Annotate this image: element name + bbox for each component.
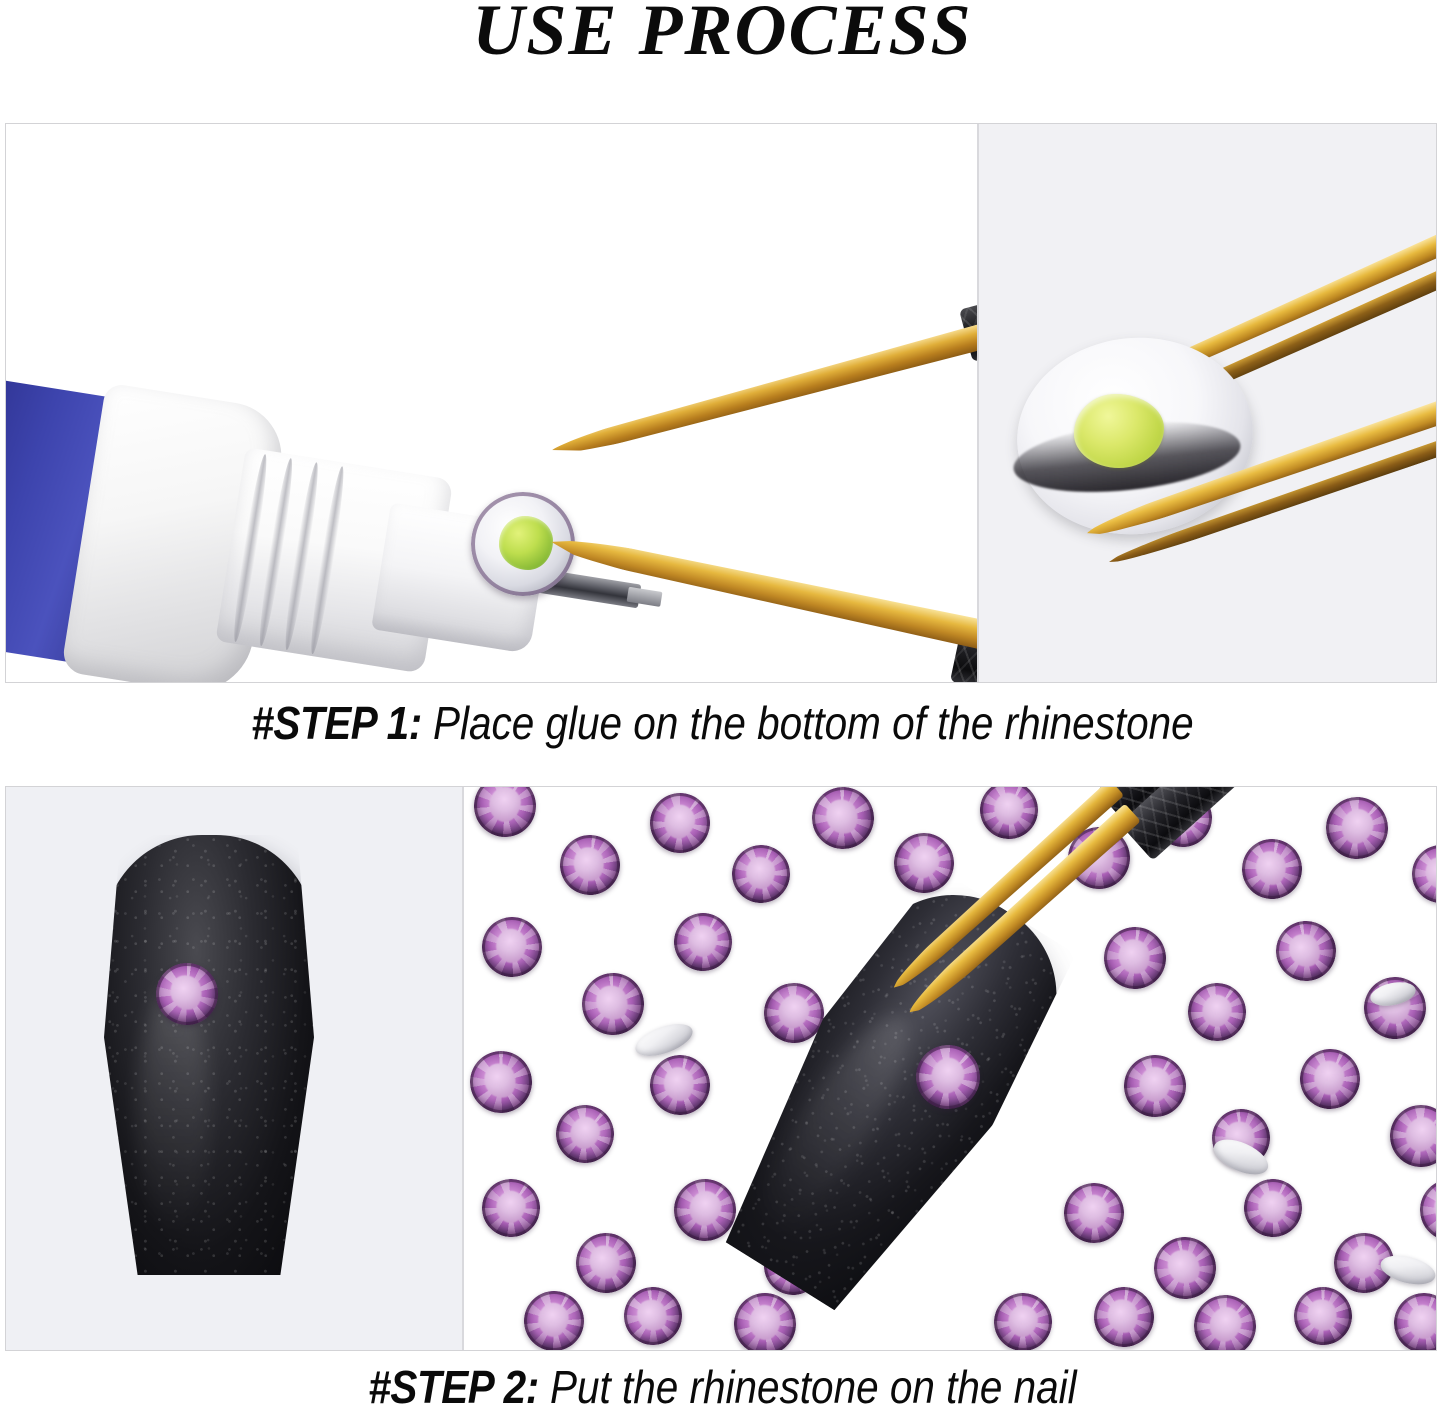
tweezer-tip-upper: [548, 318, 977, 465]
step-1-text: Place glue on the bottom of the rhinesto…: [422, 697, 1194, 749]
rhinestone: [1287, 1280, 1359, 1350]
rhinestone: [547, 1096, 624, 1173]
finished-nail-photo: [6, 787, 462, 1350]
rhinestone-closeup-photo: [979, 124, 1436, 682]
rhinestone: [573, 964, 652, 1043]
rhinestone: [1412, 1171, 1436, 1249]
rhinestone-foil-back: [1378, 1251, 1436, 1290]
rhinestone: [556, 831, 624, 899]
rhinestone: [731, 1290, 799, 1350]
rhinestone: [1180, 975, 1253, 1048]
rhinestone: [641, 787, 719, 862]
glue-tube: [6, 354, 454, 682]
rhinestone: [464, 1044, 539, 1121]
rhinestone: [615, 1278, 692, 1350]
page-title: USE PROCESS: [0, 0, 1445, 66]
step-2-photo-row: [5, 786, 1437, 1351]
step-2-label: #STEP 2:: [368, 1361, 538, 1412]
nail-tip: [104, 835, 314, 1275]
rhinestone: [975, 787, 1042, 844]
rhinestone: [1117, 1048, 1192, 1123]
rhinestone: [1316, 787, 1399, 869]
rhinestone: [648, 1053, 712, 1117]
rhinestone: [1392, 1291, 1436, 1350]
rhinestone: [669, 908, 738, 977]
rhinestone: [986, 1285, 1060, 1350]
rhinestone: [1296, 1045, 1364, 1113]
rhinestone: [467, 787, 542, 844]
rhinestone: [1057, 1176, 1131, 1250]
nail-tip: [695, 859, 1092, 1330]
rhinestone: [478, 913, 546, 981]
nail-placement-photo: [464, 787, 1436, 1350]
step-2-text: Put the rhinestone on the nail: [539, 1361, 1077, 1412]
infographic-page: USE PROCESS: [0, 0, 1445, 1412]
rhinestone: [1406, 839, 1436, 909]
rhinestone: [1239, 1174, 1306, 1241]
rhinestone: [804, 787, 882, 857]
glue-drop: [499, 516, 553, 570]
rhinestone: [474, 1171, 547, 1244]
step-1-caption: #STEP 1: Place glue on the bottom of the…: [87, 696, 1359, 750]
rhinestone: [1266, 911, 1346, 991]
step-2-caption: #STEP 2: Put the rhinestone on the nail: [87, 1360, 1359, 1412]
rhinestone: [1379, 1094, 1436, 1179]
step-1-label: #STEP 1:: [251, 697, 421, 749]
rhinestone: [518, 1285, 589, 1350]
rhinestone: [1239, 836, 1305, 902]
rhinestone: [570, 1227, 641, 1298]
rhinestone: [1089, 1282, 1159, 1350]
step-1-photo-row: [5, 123, 1437, 683]
glue-application-photo: [6, 124, 977, 682]
nail-glitter-texture: [695, 859, 1092, 1330]
rhinestone: [883, 822, 965, 904]
nail-glitter-texture: [104, 835, 314, 1275]
rhinestone: [730, 843, 793, 906]
rhinestone: [1099, 922, 1171, 994]
